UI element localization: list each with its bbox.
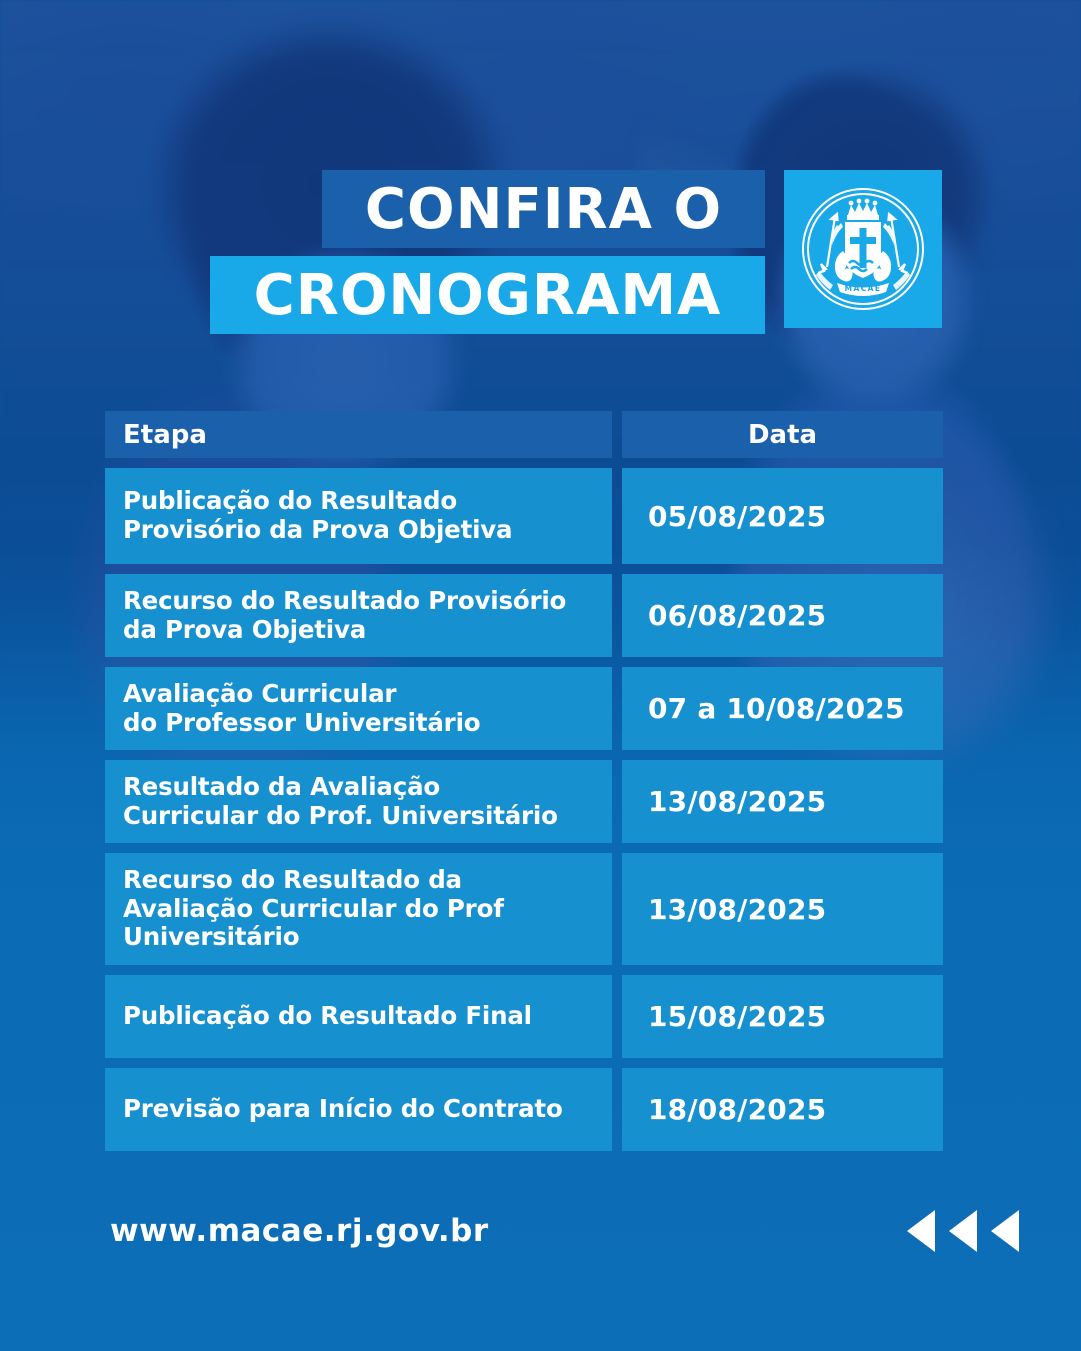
column-header-data-label: Data bbox=[748, 420, 817, 450]
cell-etapa: Recurso do Resultado Provisórioda Prova … bbox=[105, 574, 612, 657]
data-label: 06/08/2025 bbox=[648, 599, 826, 632]
footer: www.macae.rj.gov.br bbox=[0, 1205, 1081, 1275]
etapa-label: Publicação do Resultado Final bbox=[123, 1002, 532, 1031]
title-line-2: CRONOGRAMA bbox=[210, 256, 765, 334]
triangle-left-icon bbox=[907, 1210, 935, 1252]
table-row: Previsão para Início do Contrato 18/08/2… bbox=[105, 1068, 943, 1151]
column-header-etapa: Etapa bbox=[105, 411, 612, 458]
data-label: 13/08/2025 bbox=[648, 893, 826, 926]
title-line-1: CONFIRA O bbox=[322, 170, 765, 248]
schedule-table: Etapa Data Publicação do ResultadoProvis… bbox=[105, 411, 943, 1161]
crest-motto-text: MACAÉ bbox=[845, 284, 882, 293]
cell-data: 15/08/2025 bbox=[622, 975, 943, 1058]
data-label: 13/08/2025 bbox=[648, 785, 826, 818]
cell-etapa: Resultado da AvaliaçãoCurricular do Prof… bbox=[105, 760, 612, 843]
website-url[interactable]: www.macae.rj.gov.br bbox=[110, 1213, 489, 1249]
cell-etapa: Publicação do ResultadoProvisório da Pro… bbox=[105, 468, 612, 564]
data-label: 15/08/2025 bbox=[648, 1000, 826, 1033]
etapa-label: Previsão para Início do Contrato bbox=[123, 1095, 563, 1124]
cell-etapa: Previsão para Início do Contrato bbox=[105, 1068, 612, 1151]
macae-coat-of-arms-icon: MACAÉ bbox=[784, 170, 942, 328]
cell-data: 06/08/2025 bbox=[622, 574, 943, 657]
table-row: Resultado da AvaliaçãoCurricular do Prof… bbox=[105, 760, 943, 843]
etapa-label: Recurso do Resultado Provisórioda Prova … bbox=[123, 587, 566, 645]
cell-data: 13/08/2025 bbox=[622, 853, 943, 965]
etapa-label: Recurso do Resultado da Avaliação Curric… bbox=[123, 866, 504, 953]
cell-etapa: Publicação do Resultado Final bbox=[105, 975, 612, 1058]
triangle-left-icon bbox=[949, 1210, 977, 1252]
data-label: 18/08/2025 bbox=[648, 1093, 826, 1126]
table-row: Recurso do Resultado Provisórioda Prova … bbox=[105, 574, 943, 657]
table-row: Publicação do Resultado Final 15/08/2025 bbox=[105, 975, 943, 1058]
cell-etapa: Avaliação Curriculardo Professor Univers… bbox=[105, 667, 612, 750]
column-header-data: Data bbox=[622, 411, 943, 458]
table-header-row: Etapa Data bbox=[105, 411, 943, 458]
cell-data: 05/08/2025 bbox=[622, 468, 943, 564]
etapa-label: Avaliação Curriculardo Professor Univers… bbox=[123, 680, 480, 738]
column-header-etapa-label: Etapa bbox=[123, 420, 207, 450]
cell-data: 07 a 10/08/2025 bbox=[622, 667, 943, 750]
cell-etapa: Recurso do Resultado da Avaliação Curric… bbox=[105, 853, 612, 965]
table-row: Recurso do Resultado da Avaliação Curric… bbox=[105, 853, 943, 965]
table-row: Avaliação Curriculardo Professor Univers… bbox=[105, 667, 943, 750]
cell-data: 18/08/2025 bbox=[622, 1068, 943, 1151]
data-label: 07 a 10/08/2025 bbox=[648, 692, 905, 725]
cell-data: 13/08/2025 bbox=[622, 760, 943, 843]
triangle-left-icon bbox=[991, 1210, 1019, 1252]
arrow-decoration-group bbox=[907, 1210, 1019, 1252]
table-row: Publicação do ResultadoProvisório da Pro… bbox=[105, 468, 943, 564]
etapa-label: Publicação do ResultadoProvisório da Pro… bbox=[123, 487, 512, 545]
data-label: 05/08/2025 bbox=[648, 500, 826, 533]
etapa-label: Resultado da AvaliaçãoCurricular do Prof… bbox=[123, 773, 558, 831]
